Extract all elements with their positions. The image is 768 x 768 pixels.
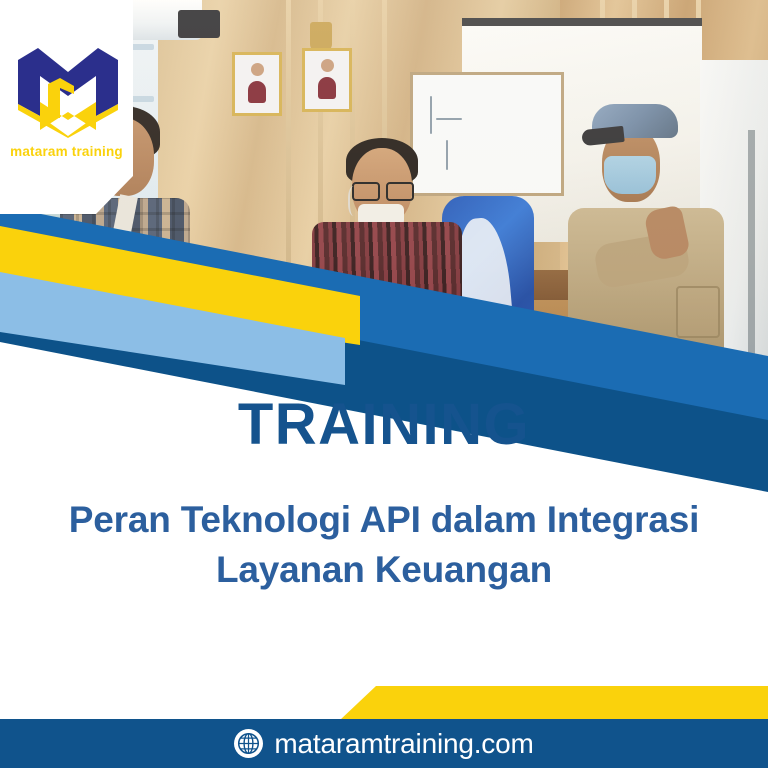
training-poster: mataram training TRAINING Peran Teknolog…: [0, 0, 768, 768]
training-subject: Peran Teknologi API dalam Integrasi Laya…: [14, 495, 754, 594]
globe-icon: [234, 729, 263, 758]
logo-wordmark: mataram training: [0, 144, 133, 159]
yellow-accent-tab: [340, 686, 768, 720]
website-url[interactable]: mataramtraining.com: [274, 728, 533, 760]
page-title: TRAINING: [0, 396, 768, 454]
training-subject-line-1: Peran Teknologi API dalam Integrasi: [14, 495, 754, 545]
footer-bar: mataramtraining.com: [0, 719, 768, 768]
training-subject-line-2: Layanan Keuangan: [14, 545, 754, 595]
mataram-training-logo-icon: [16, 46, 120, 138]
